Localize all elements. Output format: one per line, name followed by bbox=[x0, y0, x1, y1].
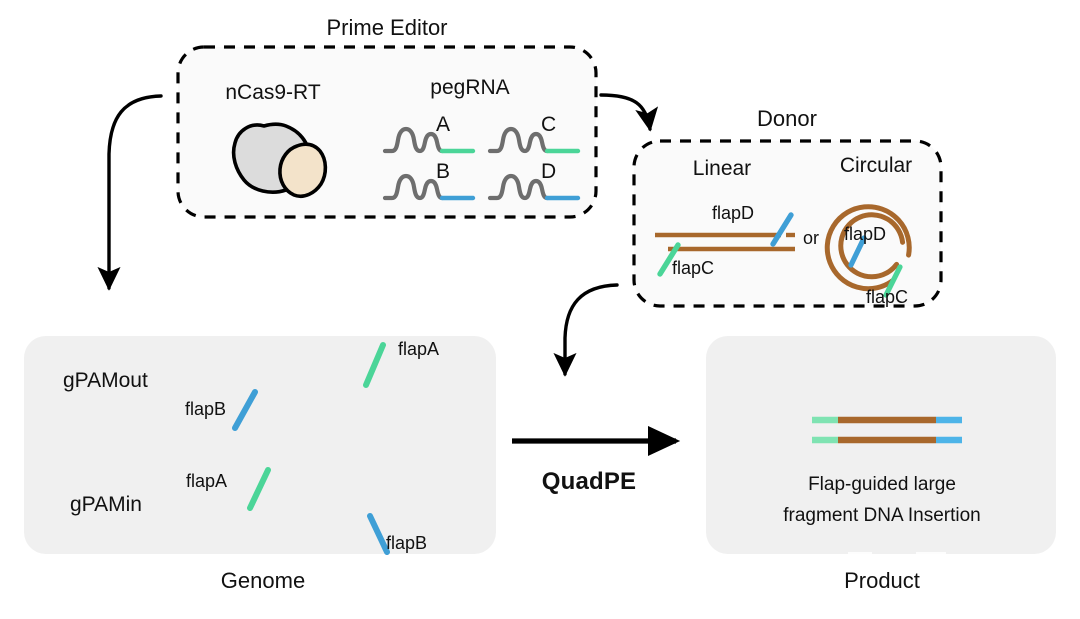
product-caption: Product bbox=[844, 570, 920, 592]
circular-flapd-label: flapD bbox=[844, 225, 886, 243]
arrow-editor-to-donor bbox=[601, 95, 650, 129]
genome-caption: Genome bbox=[221, 570, 305, 592]
pegrna-letter-c: C bbox=[541, 114, 556, 135]
product-text-line1: Flap-guided large bbox=[808, 475, 956, 494]
linear-flapd-label: flapD bbox=[712, 204, 754, 222]
diagram-vector-layer bbox=[0, 0, 1080, 619]
gpamout-label: gPAMout bbox=[63, 370, 148, 391]
gpamout-flapb-label: flapB bbox=[185, 400, 226, 418]
circular-donor-label: Circular bbox=[840, 155, 912, 176]
ncas9-rt-label: nCas9-RT bbox=[225, 82, 320, 103]
gpamin-flapb-label: flapB bbox=[386, 534, 427, 552]
circular-flapc-label: flapC bbox=[866, 288, 908, 306]
quadpe-label: QuadPE bbox=[542, 470, 637, 494]
gpamin-label: gPAMin bbox=[70, 494, 142, 515]
diagram-canvas: Prime Editor nCas9-RT pegRNA A C B D Don… bbox=[0, 0, 1080, 619]
donor-or-label: or bbox=[803, 229, 819, 247]
pegrna-letter-b: B bbox=[436, 161, 450, 182]
pegrna-label: pegRNA bbox=[430, 77, 509, 98]
linear-flapc-label: flapC bbox=[672, 259, 714, 277]
gpamout-flapa-label: flapA bbox=[398, 340, 439, 358]
gpamin-flapa-label: flapA bbox=[186, 472, 227, 490]
product-text-line2: fragment DNA Insertion bbox=[783, 506, 980, 525]
pegrna-letter-d: D bbox=[541, 161, 556, 182]
linear-donor-label: Linear bbox=[693, 158, 751, 179]
donor-title: Donor bbox=[757, 108, 817, 130]
pegrna-letter-a: A bbox=[436, 114, 450, 135]
prime-editor-title: Prime Editor bbox=[326, 17, 447, 39]
arrow-donor-to-product bbox=[565, 285, 617, 374]
arrow-editor-to-genome bbox=[109, 96, 161, 288]
